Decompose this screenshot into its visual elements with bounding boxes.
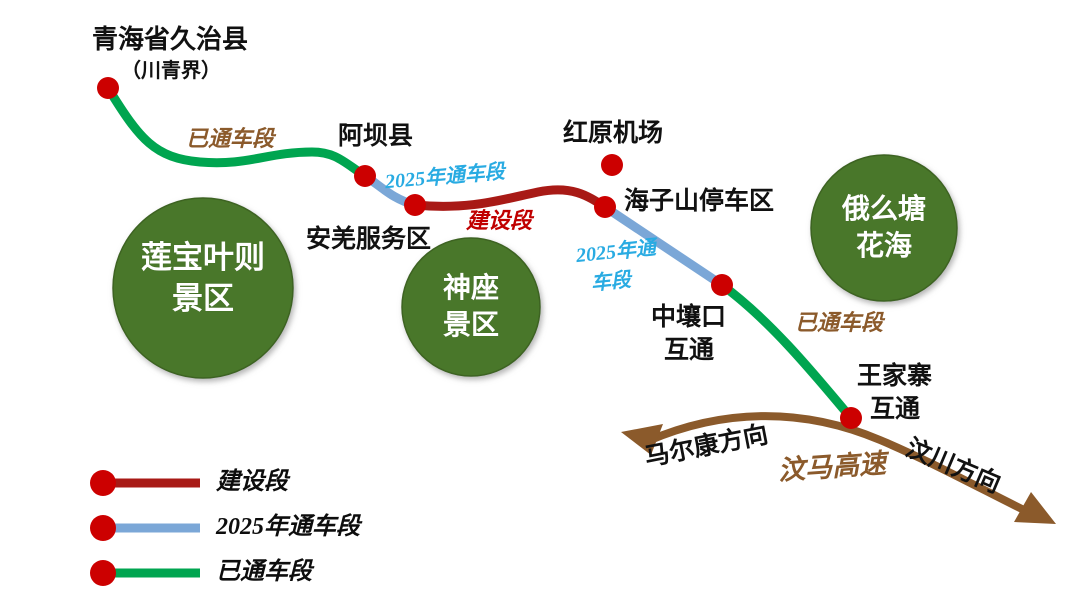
scenic-label-emotang-line2: 花海	[814, 229, 954, 262]
segment-label-opened-west: 已通车段	[186, 126, 274, 152]
place-label-jiuzhi-line2: （川青界）	[121, 60, 221, 84]
route-segment-opened-east	[722, 285, 851, 418]
legend-item-2025-label[interactable]: 2025年通车段	[216, 513, 360, 541]
place-label-hongyuan: 红原机场	[563, 119, 663, 149]
place-label-zhongrang-line2: 互通	[664, 336, 714, 366]
place-label-zhongrang-line1: 中壤口	[651, 303, 726, 333]
scenic-label-shenzuo-line2: 景区	[411, 308, 531, 341]
station-dot-icon-jiuzhi[interactable]	[97, 77, 119, 99]
segment-label-2025-east-line2: 车段	[590, 269, 632, 297]
legend-item-opened-label[interactable]: 已通车段	[216, 558, 312, 586]
scenic-label-lianbaoyeze-line1: 莲宝叶则	[123, 240, 283, 277]
station-dot-icon-aba[interactable]	[354, 165, 376, 187]
place-label-jiuzhi-line1: 青海省久治县	[92, 25, 248, 56]
segment-label-opened-east: 已通车段	[795, 310, 883, 336]
station-dot-icon-anqiang[interactable]	[404, 194, 426, 216]
place-label-wangjia-line1: 王家寨	[857, 362, 932, 392]
station-dot-icon-zhongrang[interactable]	[711, 274, 733, 296]
station-dot-icon-hongyuan[interactable]	[601, 154, 623, 176]
legend-item-built-label[interactable]: 建设段	[216, 468, 288, 496]
place-label-haizishan: 海子山停车区	[624, 187, 774, 217]
legend-dot-2025	[90, 515, 116, 541]
place-label-anqiang: 安羌服务区	[306, 225, 431, 255]
station-dot-icon-wangjia[interactable]	[840, 407, 862, 429]
legend-dot-opened	[90, 560, 116, 586]
route-diagram: 青海省久治县 （川青界） 阿坝县 安羌服务区 红原机场 海子山停车区 中壤口 互…	[0, 0, 1080, 608]
scenic-circle-shenzuo	[402, 238, 540, 376]
segment-label-built: 建设段	[466, 208, 532, 234]
scenic-label-shenzuo-line1: 神座	[411, 271, 531, 304]
scenic-label-lianbaoyeze-line2: 景区	[123, 281, 283, 318]
scenic-label-emotang-line1: 俄么塘	[814, 192, 954, 225]
route-segment-built	[415, 190, 605, 207]
scenic-circle-emotang	[811, 155, 957, 301]
place-label-wangjia-line2: 互通	[870, 395, 920, 425]
legend-dot-built	[90, 470, 116, 496]
place-label-aba: 阿坝县	[338, 122, 413, 152]
station-dot-icon-haizishan[interactable]	[594, 196, 616, 218]
